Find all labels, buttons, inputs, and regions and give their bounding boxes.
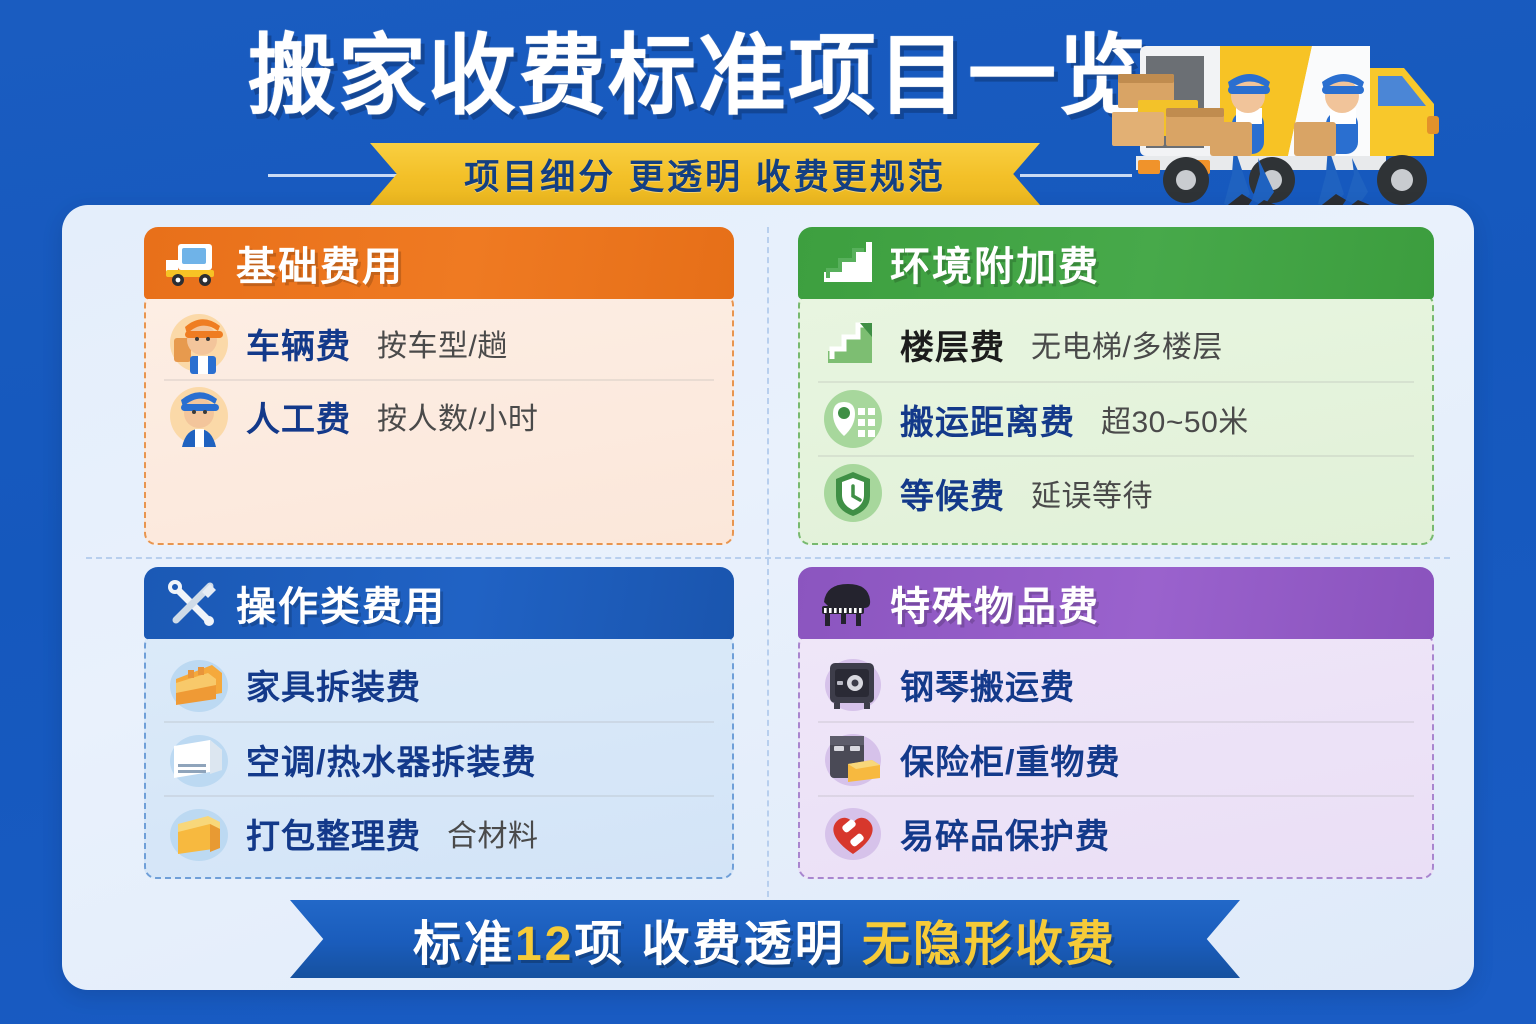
- list-item[interactable]: 搬运距离费 超30~50米: [818, 381, 1414, 455]
- item-desc: 无电梯/多楼层: [1031, 322, 1223, 366]
- item-name: 保险柜/重物费: [900, 735, 1120, 784]
- safe-vault-icon: [822, 653, 884, 715]
- item-name: 等候费: [900, 469, 1005, 518]
- location-pin-icon: [822, 388, 884, 450]
- card-body-operation-fee: 家具拆装费 空调/热水器拆装费: [144, 633, 734, 879]
- list-item[interactable]: 钢琴搬运费: [818, 647, 1414, 721]
- ribbon-rule-left: [268, 174, 398, 177]
- stairs-icon: [816, 236, 876, 290]
- subtitle-text: 项目细分 更透明 收费更规范: [464, 149, 945, 200]
- card-basic-fee[interactable]: 基础费用 车辆费 按车型/趟: [144, 227, 734, 545]
- card-header-special-items-fee: 特殊物品费: [798, 567, 1434, 639]
- sofa-icon: [168, 653, 230, 715]
- main-panel: 基础费用 车辆费 按车型/趟: [62, 205, 1474, 990]
- header: 搬家收费标准项目一览 项目细分 更透明 收费更规范: [0, 0, 1536, 210]
- item-name: 人工费: [246, 392, 351, 441]
- package-box-icon: [168, 802, 230, 864]
- page-title: 搬家收费标准项目一览: [248, 28, 1148, 123]
- footer-text: 标准12项 收费透明 无隐形收费: [413, 904, 1117, 974]
- item-name: 车辆费: [246, 319, 351, 368]
- card-header-operation-fee: 操作类费用: [144, 567, 734, 639]
- list-item[interactable]: 车辆费 按车型/趟: [164, 307, 714, 379]
- tools-icon: [162, 576, 222, 630]
- list-item[interactable]: 等候费 延误等待: [818, 455, 1414, 529]
- item-name: 钢琴搬运费: [900, 660, 1075, 709]
- item-name: 易碎品保护费: [900, 809, 1110, 858]
- broken-heart-icon: [822, 802, 884, 864]
- card-body-special-items-fee: 钢琴搬运费 保险柜/重物费: [798, 633, 1434, 879]
- card-header-environment-surcharge: 环境附加费: [798, 227, 1434, 299]
- card-title: 操作类费用: [236, 574, 446, 632]
- item-desc: 按车型/趟: [377, 321, 508, 365]
- card-header-basic-fee: 基础费用: [144, 227, 734, 299]
- item-desc: 合材料: [447, 811, 539, 855]
- list-item[interactable]: 易碎品保护费: [818, 795, 1414, 869]
- item-name: 空调/热水器拆装费: [246, 735, 536, 784]
- item-name: 家具拆装费: [246, 660, 421, 709]
- card-special-items-fee[interactable]: 特殊物品费 钢琴搬运费: [798, 567, 1434, 879]
- footer-part1: 标准: [413, 918, 515, 971]
- card-environment-surcharge[interactable]: 环境附加费 楼层费 无电梯/多楼层: [798, 227, 1434, 545]
- safe-with-box-icon: [822, 728, 884, 790]
- card-title: 基础费用: [236, 234, 404, 292]
- card-body-environment-surcharge: 楼层费 无电梯/多楼层 搬运距离费: [798, 293, 1434, 545]
- footer-banner: 标准12项 收费透明 无隐形收费: [290, 900, 1240, 978]
- list-item[interactable]: 楼层费 无电梯/多楼层: [818, 307, 1414, 381]
- subtitle-ribbon: 项目细分 更透明 收费更规范: [370, 143, 1040, 205]
- list-item[interactable]: 打包整理费 合材料: [164, 795, 714, 869]
- ac-unit-icon: [168, 728, 230, 790]
- card-body-basic-fee: 车辆费 按车型/趟 人工费 按人数/小时: [144, 293, 734, 545]
- item-desc: 按人数/小时: [377, 394, 538, 438]
- horizontal-divider: [86, 557, 1450, 559]
- subtitle-ribbon-wrap: 项目细分 更透明 收费更规范: [0, 143, 1130, 205]
- footer-part2: 项 收费透明: [574, 918, 862, 971]
- list-item[interactable]: 人工费 按人数/小时: [164, 379, 714, 451]
- item-desc: 延误等待: [1031, 471, 1153, 515]
- clock-shield-icon: [822, 462, 884, 524]
- card-title: 环境附加费: [890, 234, 1100, 292]
- footer-highlight-nohidden: 无隐形收费: [862, 918, 1117, 971]
- worker-blue-cap-icon: [168, 385, 230, 447]
- truck-icon: [162, 236, 222, 290]
- item-desc: 超30~50米: [1101, 397, 1249, 441]
- item-name: 楼层费: [900, 320, 1005, 369]
- card-operation-fee[interactable]: 操作类费用 家具拆装费: [144, 567, 734, 879]
- list-item[interactable]: 空调/热水器拆装费: [164, 721, 714, 795]
- worker-orange-cap-icon: [168, 312, 230, 374]
- vertical-divider: [767, 227, 769, 907]
- item-name: 搬运距离费: [900, 395, 1075, 444]
- item-name: 打包整理费: [246, 809, 421, 858]
- card-title: 特殊物品费: [890, 574, 1100, 632]
- moving-truck-illustration: [1082, 8, 1522, 220]
- list-item[interactable]: 家具拆装费: [164, 647, 714, 721]
- stairs-icon: [822, 313, 884, 375]
- list-item[interactable]: 保险柜/重物费: [818, 721, 1414, 795]
- footer-highlight-count: 12: [515, 918, 574, 971]
- piano-icon: [816, 576, 876, 630]
